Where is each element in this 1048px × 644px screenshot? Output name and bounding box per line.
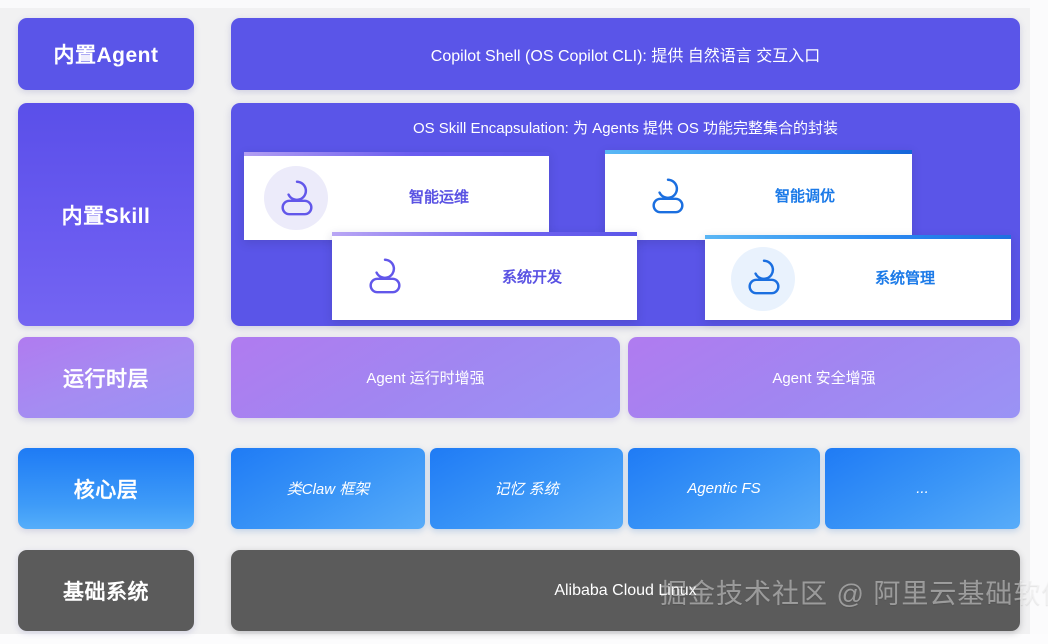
canvas-right-band xyxy=(1030,0,1048,644)
canvas-top-band xyxy=(0,0,1048,8)
copilot-shell-title: Copilot Shell (OS Copilot CLI): 提供 自然语言 … xyxy=(431,42,820,66)
layer-label-text: 内置Agent xyxy=(54,39,159,69)
layer-label-builtin-agent: 内置Agent xyxy=(18,18,194,90)
copilot-shell-block: Copilot Shell (OS Copilot CLI): 提供 自然语言 … xyxy=(231,18,1020,90)
user-profile-icon xyxy=(647,174,689,216)
skill-encapsulation-title: OS Skill Encapsulation: 为 Agents 提供 OS 功… xyxy=(231,117,1020,138)
core-block-agentic-fs: Agentic FS xyxy=(628,448,820,529)
skill-card-label: 系统管理 xyxy=(805,235,1005,320)
runtime-block-label: Agent 运行时增强 xyxy=(366,367,484,388)
core-block-label: ... xyxy=(916,480,929,497)
skill-card-intelligent-ops[interactable]: 智能运维 xyxy=(244,152,549,240)
runtime-block-label: Agent 安全增强 xyxy=(772,367,875,388)
core-block-memory-system: 记忆 系统 xyxy=(430,448,623,529)
architecture-diagram: 内置Agent 内置Skill 运行时层 核心层 基础系统 Copilot Sh… xyxy=(0,0,1048,644)
core-block-label: 记忆 系统 xyxy=(494,478,558,499)
user-profile-icon xyxy=(364,254,406,296)
runtime-block-agent-runtime-enhancement: Agent 运行时增强 xyxy=(231,337,620,418)
core-block-more: ... xyxy=(825,448,1020,529)
skill-card-label: 智能运维 xyxy=(339,152,539,240)
skill-encapsulation-block: OS Skill Encapsulation: 为 Agents 提供 OS 功… xyxy=(231,103,1020,326)
runtime-block-agent-security-enhancement: Agent 安全增强 xyxy=(628,337,1020,418)
core-block-claw-framework: 类Claw 框架 xyxy=(231,448,425,529)
layer-label-text: 核心层 xyxy=(74,474,139,504)
layer-label-text: 基础系统 xyxy=(63,576,149,606)
skill-card-system-development[interactable]: 系统开发 xyxy=(332,232,637,320)
skill-card-label: 智能调优 xyxy=(705,150,905,240)
skill-card-intelligent-tuning[interactable]: 智能调优 xyxy=(605,150,912,240)
layer-label-builtin-skill: 内置Skill xyxy=(18,103,194,326)
core-block-label: Agentic FS xyxy=(687,480,760,497)
layer-label-base-system: 基础系统 xyxy=(18,550,194,631)
layer-label-text: 内置Skill xyxy=(62,200,151,230)
skill-card-system-management[interactable]: 系统管理 xyxy=(705,235,1011,320)
canvas-bottom-band xyxy=(0,634,1048,644)
skill-card-label: 系统开发 xyxy=(432,232,632,320)
core-block-label: 类Claw 框架 xyxy=(287,478,370,499)
watermark: 掘金技术社区 @ 阿里云基础软件 xyxy=(660,572,1048,611)
user-profile-icon xyxy=(276,176,318,218)
layer-label-core: 核心层 xyxy=(18,448,194,529)
layer-label-text: 运行时层 xyxy=(63,363,149,393)
layer-label-runtime: 运行时层 xyxy=(18,337,194,418)
user-profile-icon xyxy=(743,255,785,297)
